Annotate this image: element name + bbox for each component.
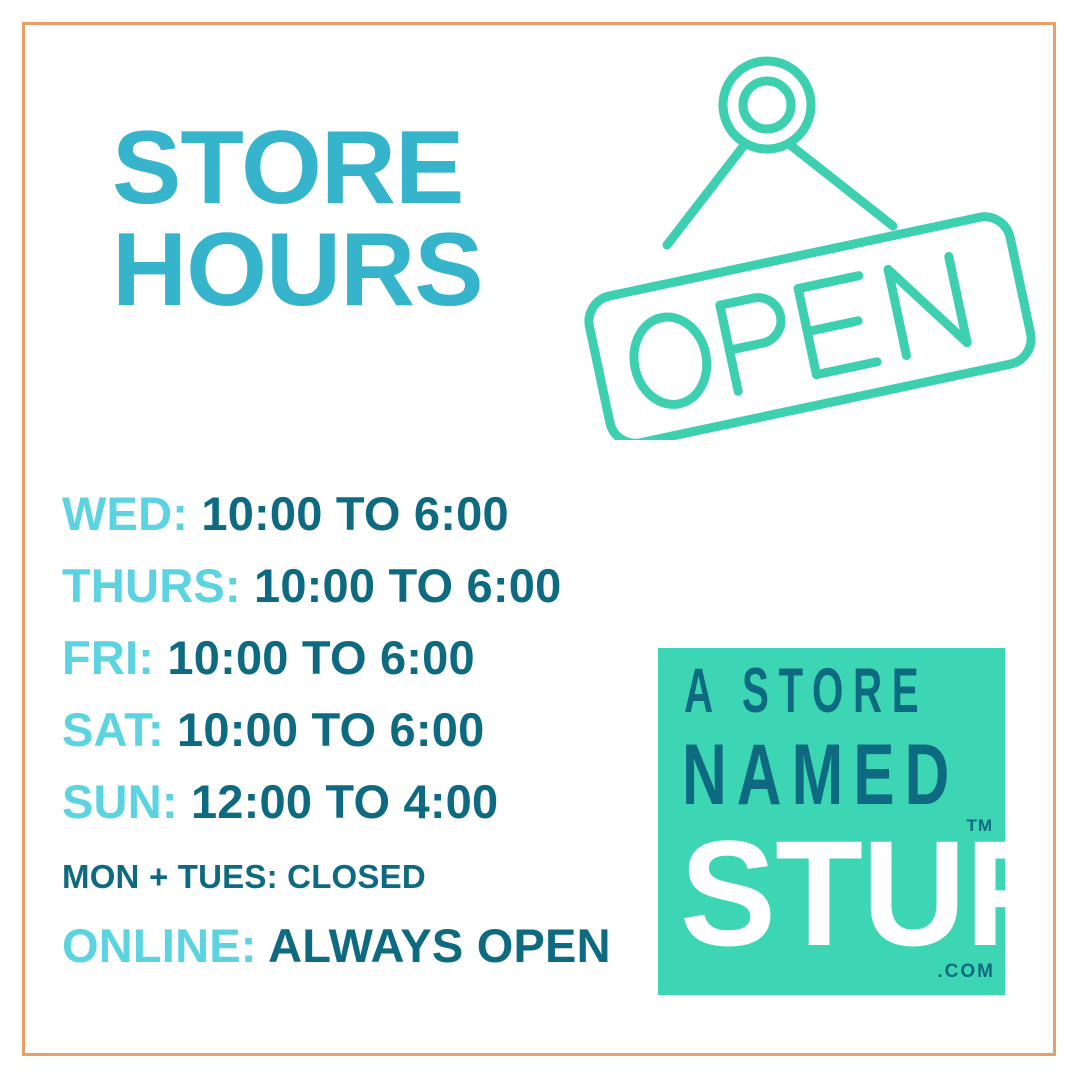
string-left xyxy=(667,144,745,245)
page-title: STORE HOURS xyxy=(112,118,483,322)
hours-list: WED: 10:00 TO 6:00 THURS: 10:00 TO 6:00 … xyxy=(62,484,702,988)
sign-board xyxy=(584,212,1036,440)
string-right xyxy=(789,144,893,226)
logo-line-stuff: STUFF xyxy=(680,818,1005,968)
hours-time-value: 10:00 TO 6:00 xyxy=(254,559,561,612)
open-sign-illustration xyxy=(575,40,1045,440)
hours-day-label: SAT: xyxy=(62,703,177,756)
trademark-mark: TM xyxy=(966,816,993,836)
hours-day-label: ONLINE: xyxy=(62,919,268,972)
hours-row: FRI: 10:00 TO 6:00 xyxy=(62,628,702,700)
hook-outer-ring xyxy=(723,61,811,149)
hours-time-value: CLOSED xyxy=(287,858,426,895)
hours-day-label: SUN: xyxy=(62,775,191,828)
hours-row-closed: MON + TUES: CLOSED xyxy=(62,844,702,916)
hours-row: SUN: 12:00 TO 4:00 xyxy=(62,772,702,844)
hours-day-label: FRI: xyxy=(62,631,167,684)
hours-time-value: 12:00 TO 4:00 xyxy=(191,775,498,828)
dotcom-mark: .COM xyxy=(937,961,995,983)
hours-row-online: ONLINE: ALWAYS OPEN xyxy=(62,916,702,988)
open-sign-svg xyxy=(575,40,1045,440)
brand-logo: A STORE NAMED STUFF TM .COM xyxy=(658,648,1005,995)
hours-day-label: WED: xyxy=(62,487,201,540)
hours-time-value: ALWAYS OPEN xyxy=(268,919,611,972)
hours-time-value: 10:00 TO 6:00 xyxy=(201,487,508,540)
hours-time-value: 10:00 TO 6:00 xyxy=(177,703,484,756)
hours-row: THURS: 10:00 TO 6:00 xyxy=(62,556,702,628)
hours-row: WED: 10:00 TO 6:00 xyxy=(62,484,702,556)
hours-time-value: 10:00 TO 6:00 xyxy=(167,631,474,684)
hours-day-label: THURS: xyxy=(62,559,254,612)
logo-line-named: NAMED xyxy=(682,732,959,818)
store-hours-poster: STORE HOURS xyxy=(0,0,1080,1080)
hours-row: SAT: 10:00 TO 6:00 xyxy=(62,700,702,772)
hours-day-label: MON + TUES: xyxy=(62,858,287,895)
hook-inner-ring xyxy=(743,81,791,129)
logo-line-a-store: A STORE xyxy=(684,660,928,723)
